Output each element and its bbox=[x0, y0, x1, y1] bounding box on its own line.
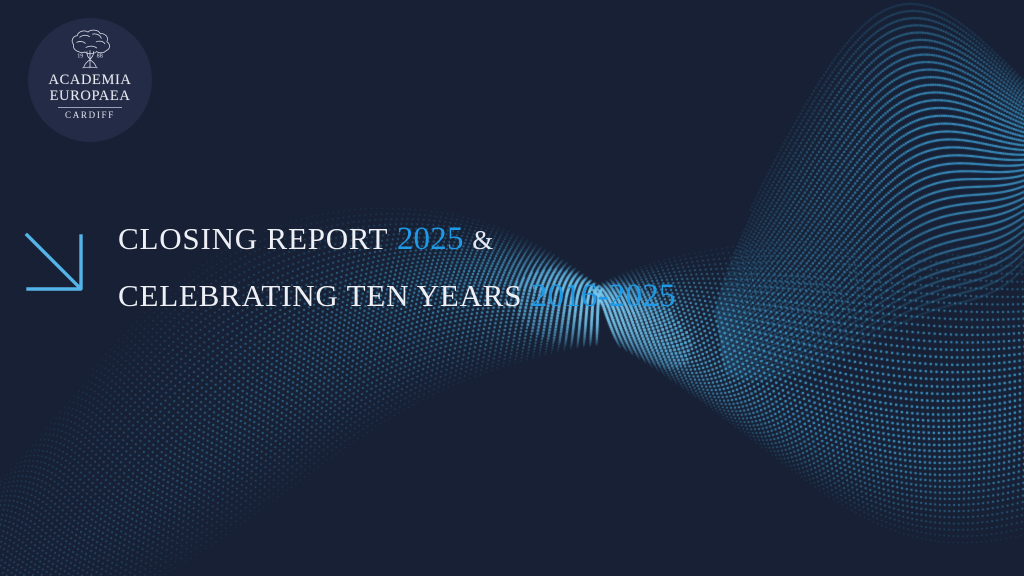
headline-line-1-lead: CLOSING REPORT bbox=[118, 221, 388, 256]
logo-year-left: 19 bbox=[77, 54, 83, 60]
title-slide: 19 88 ACADEMIA EUROPAEA CARDIFF CLOSING … bbox=[0, 0, 1024, 576]
headline-line-1: CLOSING REPORT 2025 & bbox=[118, 212, 878, 267]
headline-line-1-accent: 2025 bbox=[397, 221, 464, 257]
arrow-down-right-icon bbox=[22, 230, 88, 296]
headline-line-2-lead: CELEBRATING TEN YEARS bbox=[118, 278, 522, 313]
academia-europaea-logo: 19 88 ACADEMIA EUROPAEA CARDIFF bbox=[28, 18, 152, 142]
logo-subtitle: CARDIFF bbox=[65, 110, 115, 120]
logo-divider bbox=[58, 107, 122, 108]
headline-block: CLOSING REPORT 2025 & CELEBRATING TEN YE… bbox=[118, 212, 878, 323]
headline-line-1-tail: & bbox=[472, 225, 494, 255]
logo-name-line2: EUROPAEA bbox=[50, 89, 131, 104]
logo-name-line1: ACADEMIA bbox=[49, 73, 132, 88]
oak-tree-icon: 19 88 bbox=[64, 28, 116, 72]
headline-line-2: CELEBRATING TEN YEARS 2016-2025 bbox=[118, 269, 878, 323]
logo-year-right: 88 bbox=[97, 54, 103, 60]
headline-line-2-accent: 2016-2025 bbox=[531, 278, 676, 314]
